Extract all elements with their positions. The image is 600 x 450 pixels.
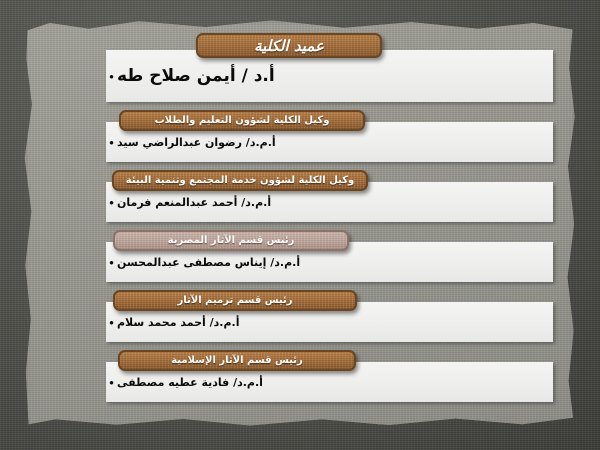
name-text-row-3: أ.م.د/ إيناس مصطفى عبدالمحسن bbox=[117, 256, 300, 269]
name-text-row-2: أ.م.د/ أحمد عبدالمنعم فرمان bbox=[117, 196, 271, 209]
bullet-icon: • bbox=[106, 70, 117, 83]
title-chip-label-row-3: رئيس قسم الآثار المصرية bbox=[168, 235, 295, 246]
title-chip-row-3: رئيس قسم الآثار المصرية bbox=[113, 230, 349, 251]
title-chip-label-dean: عميد الكلية bbox=[254, 37, 324, 55]
title-chip-label-row-2: وكيل الكلية لشؤون خدمة المجتمع وتنمية ال… bbox=[126, 175, 354, 186]
title-chip-dean: عميد الكلية bbox=[196, 33, 382, 58]
title-chip-row-4: رئيس قسم ترميم الآثار bbox=[113, 290, 357, 311]
title-chip-label-row-5: رئيس قسم الآثار الإسلامية bbox=[171, 355, 303, 366]
name-text-row-1: أ.م.د/ رضوان عبدالراضي سيد bbox=[117, 136, 276, 149]
bullet-icon: • bbox=[106, 256, 117, 269]
title-chip-label-row-4: رئيس قسم ترميم الآثار bbox=[178, 295, 293, 306]
bullet-icon: • bbox=[106, 136, 117, 149]
bullet-icon: • bbox=[106, 316, 117, 329]
title-chip-row-5: رئيس قسم الآثار الإسلامية bbox=[118, 350, 356, 371]
name-text-row-4: أ.م.د/ أحمد محمد سلام bbox=[117, 316, 239, 329]
title-chip-label-row-1: وكيل الكلية لشؤون التعليم والطلاب bbox=[155, 115, 330, 126]
title-chip-row-2: وكيل الكلية لشؤون خدمة المجتمع وتنمية ال… bbox=[112, 170, 368, 191]
name-text-dean: أ.د / أيمن صلاح طه bbox=[117, 66, 275, 86]
slide-canvas: أ.د / أيمن صلاح طه • عميد الكلية أ.م.د/ … bbox=[0, 0, 600, 450]
title-chip-row-1: وكيل الكلية لشؤون التعليم والطلاب bbox=[119, 110, 365, 131]
name-text-row-5: أ.م.د/ فادية عطيه مصطفى bbox=[117, 376, 263, 389]
bullet-icon: • bbox=[106, 196, 117, 209]
bullet-icon: • bbox=[106, 376, 117, 389]
